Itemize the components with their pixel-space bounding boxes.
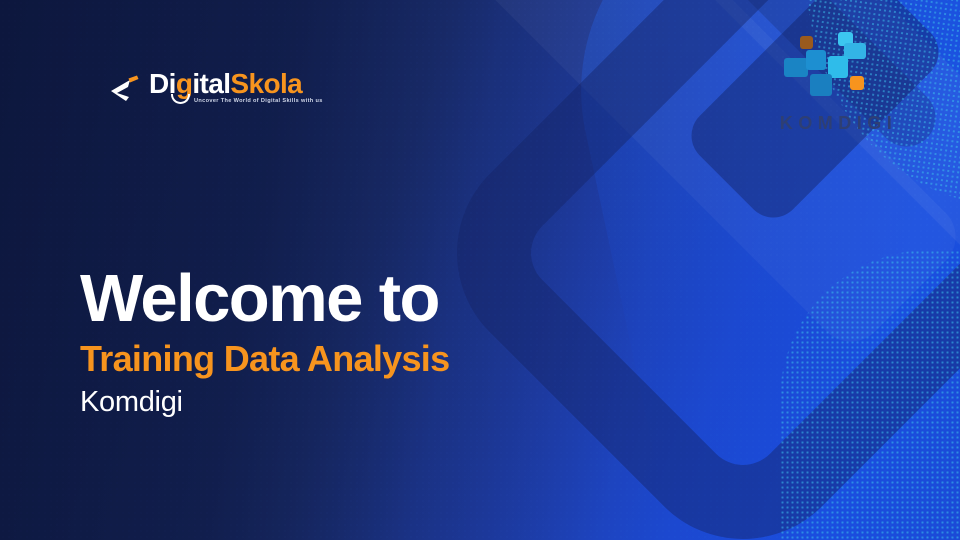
title-slide: DigitalSkola Uncover The World of Digita… bbox=[0, 0, 960, 540]
halftone-dots-bottom bbox=[780, 250, 960, 540]
digitalskola-name-skola: Skola bbox=[230, 68, 302, 99]
digitalskola-smile-icon bbox=[171, 94, 190, 104]
organization-name: Komdigi bbox=[80, 387, 700, 417]
block-blue-mid bbox=[806, 50, 826, 70]
digitalskola-chevron-icon bbox=[108, 74, 140, 104]
block-blue-lower bbox=[810, 74, 832, 96]
komdigi-logo: KOMDIGI bbox=[766, 32, 906, 134]
block-blue-left bbox=[784, 58, 808, 77]
title-block: Welcome to Training Data Analysis Komdig… bbox=[80, 265, 700, 418]
block-dark-orange bbox=[800, 36, 813, 49]
komdigi-wordmark: KOMDIGI bbox=[766, 113, 906, 134]
digitalskola-tagline: Uncover The World of Digital Skills with… bbox=[194, 98, 323, 104]
block-orange bbox=[850, 76, 864, 90]
digitalskola-logo: DigitalSkola Uncover The World of Digita… bbox=[108, 70, 302, 104]
digitalskola-wordmark: DigitalSkola Uncover The World of Digita… bbox=[149, 70, 302, 98]
komdigi-blocks-icon bbox=[784, 32, 888, 108]
welcome-heading: Welcome to bbox=[80, 265, 700, 333]
course-subtitle: Training Data Analysis bbox=[80, 340, 700, 378]
digitalskola-name-ital: ital bbox=[192, 68, 230, 99]
